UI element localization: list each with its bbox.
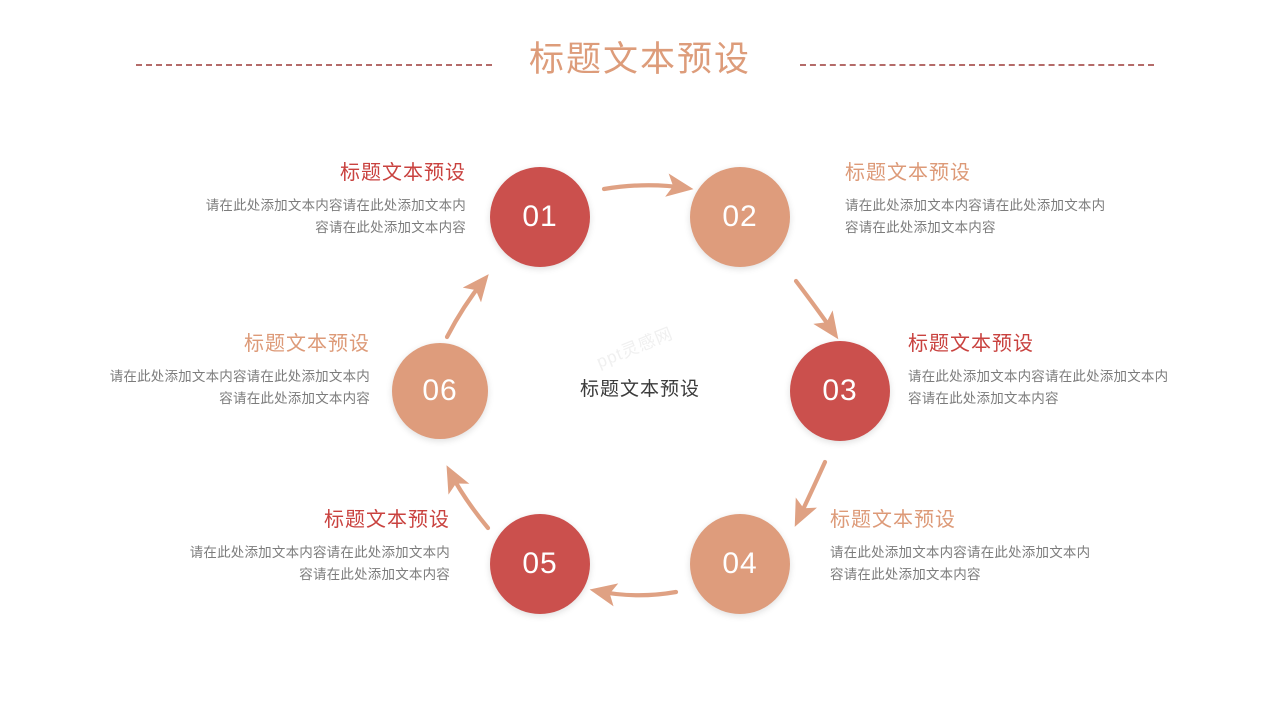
- text-block-02-body: 请在此处添加文本内容请在此处添加文本内容请在此处添加文本内容: [845, 195, 1115, 239]
- arrow-06-to-01: [447, 280, 484, 337]
- text-block-05: 标题文本预设 请在此处添加文本内容请在此处添加文本内容请在此处添加文本内容: [180, 506, 450, 586]
- node-number-01: 01: [522, 200, 557, 234]
- node-circle-03[interactable]: 03: [790, 341, 890, 441]
- center-caption: 标题文本预设: [540, 374, 740, 401]
- text-block-02-heading: 标题文本预设: [845, 159, 1115, 187]
- node-circle-01[interactable]: 01: [490, 167, 590, 267]
- node-circle-06[interactable]: 06: [392, 343, 488, 439]
- arrow-02-to-03: [796, 281, 834, 333]
- arrow-01-to-02: [604, 185, 686, 189]
- node-number-05: 05: [522, 547, 557, 581]
- node-circle-05[interactable]: 05: [490, 514, 590, 614]
- arrow-05-to-06: [450, 472, 488, 528]
- text-block-06: 标题文本预设 请在此处添加文本内容请在此处添加文本内容请在此处添加文本内容: [100, 330, 370, 410]
- node-circle-04[interactable]: 04: [690, 514, 790, 614]
- text-block-05-heading: 标题文本预设: [180, 506, 450, 534]
- text-block-04-heading: 标题文本预设: [830, 506, 1100, 534]
- node-number-03: 03: [822, 374, 857, 408]
- text-block-01: 标题文本预设 请在此处添加文本内容请在此处添加文本内容请在此处添加文本内容: [196, 159, 466, 239]
- text-block-01-body: 请在此处添加文本内容请在此处添加文本内容请在此处添加文本内容: [196, 195, 466, 239]
- text-block-03: 标题文本预设 请在此处添加文本内容请在此处添加文本内容请在此处添加文本内容: [908, 330, 1178, 410]
- node-circle-02[interactable]: 02: [690, 167, 790, 267]
- arrow-03-to-04: [798, 462, 825, 520]
- text-block-01-heading: 标题文本预设: [196, 159, 466, 187]
- text-block-04: 标题文本预设 请在此处添加文本内容请在此处添加文本内容请在此处添加文本内容: [830, 506, 1100, 586]
- text-block-05-body: 请在此处添加文本内容请在此处添加文本内容请在此处添加文本内容: [180, 542, 450, 586]
- node-number-02: 02: [722, 200, 757, 234]
- text-block-06-heading: 标题文本预设: [100, 330, 370, 358]
- text-block-02: 标题文本预设 请在此处添加文本内容请在此处添加文本内容请在此处添加文本内容: [845, 159, 1115, 239]
- cycle-diagram: 01 02 03 04 05 06 ppt灵感网 标题文本预设 标题文本预设 请…: [0, 0, 1280, 720]
- node-number-04: 04: [722, 547, 757, 581]
- text-block-06-body: 请在此处添加文本内容请在此处添加文本内容请在此处添加文本内容: [100, 366, 370, 410]
- text-block-03-body: 请在此处添加文本内容请在此处添加文本内容请在此处添加文本内容: [908, 366, 1178, 410]
- arrow-04-to-05: [597, 591, 676, 595]
- text-block-03-heading: 标题文本预设: [908, 330, 1178, 358]
- text-block-04-body: 请在此处添加文本内容请在此处添加文本内容请在此处添加文本内容: [830, 542, 1100, 586]
- node-number-06: 06: [422, 374, 457, 408]
